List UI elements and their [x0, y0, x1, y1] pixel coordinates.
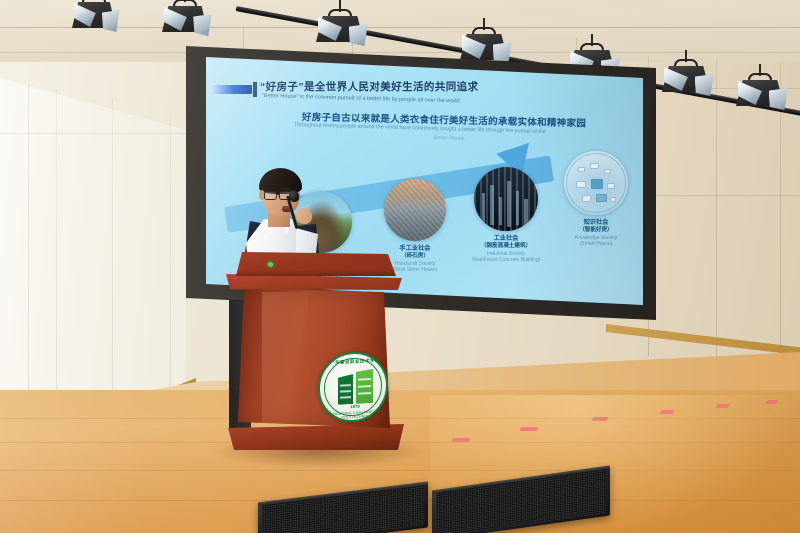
timeline-photo-industrial — [474, 167, 538, 231]
slide-title-en: “Better House” is the common pursuit of … — [262, 93, 460, 105]
title-accent-bar — [210, 85, 252, 94]
timeline-label-knowledge: 知识社会 （智能好房） Knowledge Society (Smart Hou… — [550, 219, 642, 248]
timeline-photo-knowledge — [564, 151, 628, 215]
stage-label-en-sub: (Reinforced Concrete Building) — [460, 257, 552, 264]
eyeglasses-left-lens — [264, 191, 277, 200]
stage-light — [662, 50, 710, 98]
timeline-label-industrial: 工业社会 （钢筋混凝土建筑） Industrial Society (Reinf… — [460, 235, 552, 264]
stage-light — [162, 0, 208, 36]
eyebrow-left — [265, 188, 276, 190]
power-indicator-led — [268, 262, 273, 267]
stage-label-en-sub: (Smart House) — [550, 241, 642, 248]
school-emblem: 广东建设职业技术学院 1979 GUANGDONG CONSTRUCTION P… — [318, 350, 388, 424]
floor-marker — [659, 410, 675, 414]
podium-base — [228, 424, 404, 450]
emblem-building-left-icon — [338, 374, 353, 405]
floor-marker — [519, 427, 539, 431]
eyebrow-right — [280, 188, 291, 190]
stage-light — [316, 0, 364, 48]
emblem-building-right-icon — [356, 369, 373, 404]
stage-light — [72, 0, 116, 30]
slide-title-cn: “好房子”是全世界人民对美好生活的共同追求 — [260, 79, 478, 94]
stage-label-cn-sub: （钢筋混凝土建筑） — [460, 243, 552, 251]
presenter-hand — [296, 208, 312, 224]
stage-light — [736, 64, 784, 112]
podium-desktop — [232, 252, 396, 276]
floor-marker — [451, 438, 471, 442]
lecture-hall-scene: “好房子”是全世界人民对美好生活的共同追求 “Better House” is … — [0, 0, 800, 533]
floor-marker — [765, 400, 779, 404]
stage-label-cn-sub: （智能好房） — [550, 227, 642, 235]
slide-subtitle-en-cont: Better House. — [434, 135, 466, 142]
timeline-photo-handicraft — [384, 179, 446, 241]
floor-marker — [591, 417, 609, 421]
floor-marker — [715, 404, 730, 408]
stage-light — [460, 18, 508, 66]
title-tick — [253, 82, 257, 97]
eyeglasses-bridge — [277, 194, 280, 195]
